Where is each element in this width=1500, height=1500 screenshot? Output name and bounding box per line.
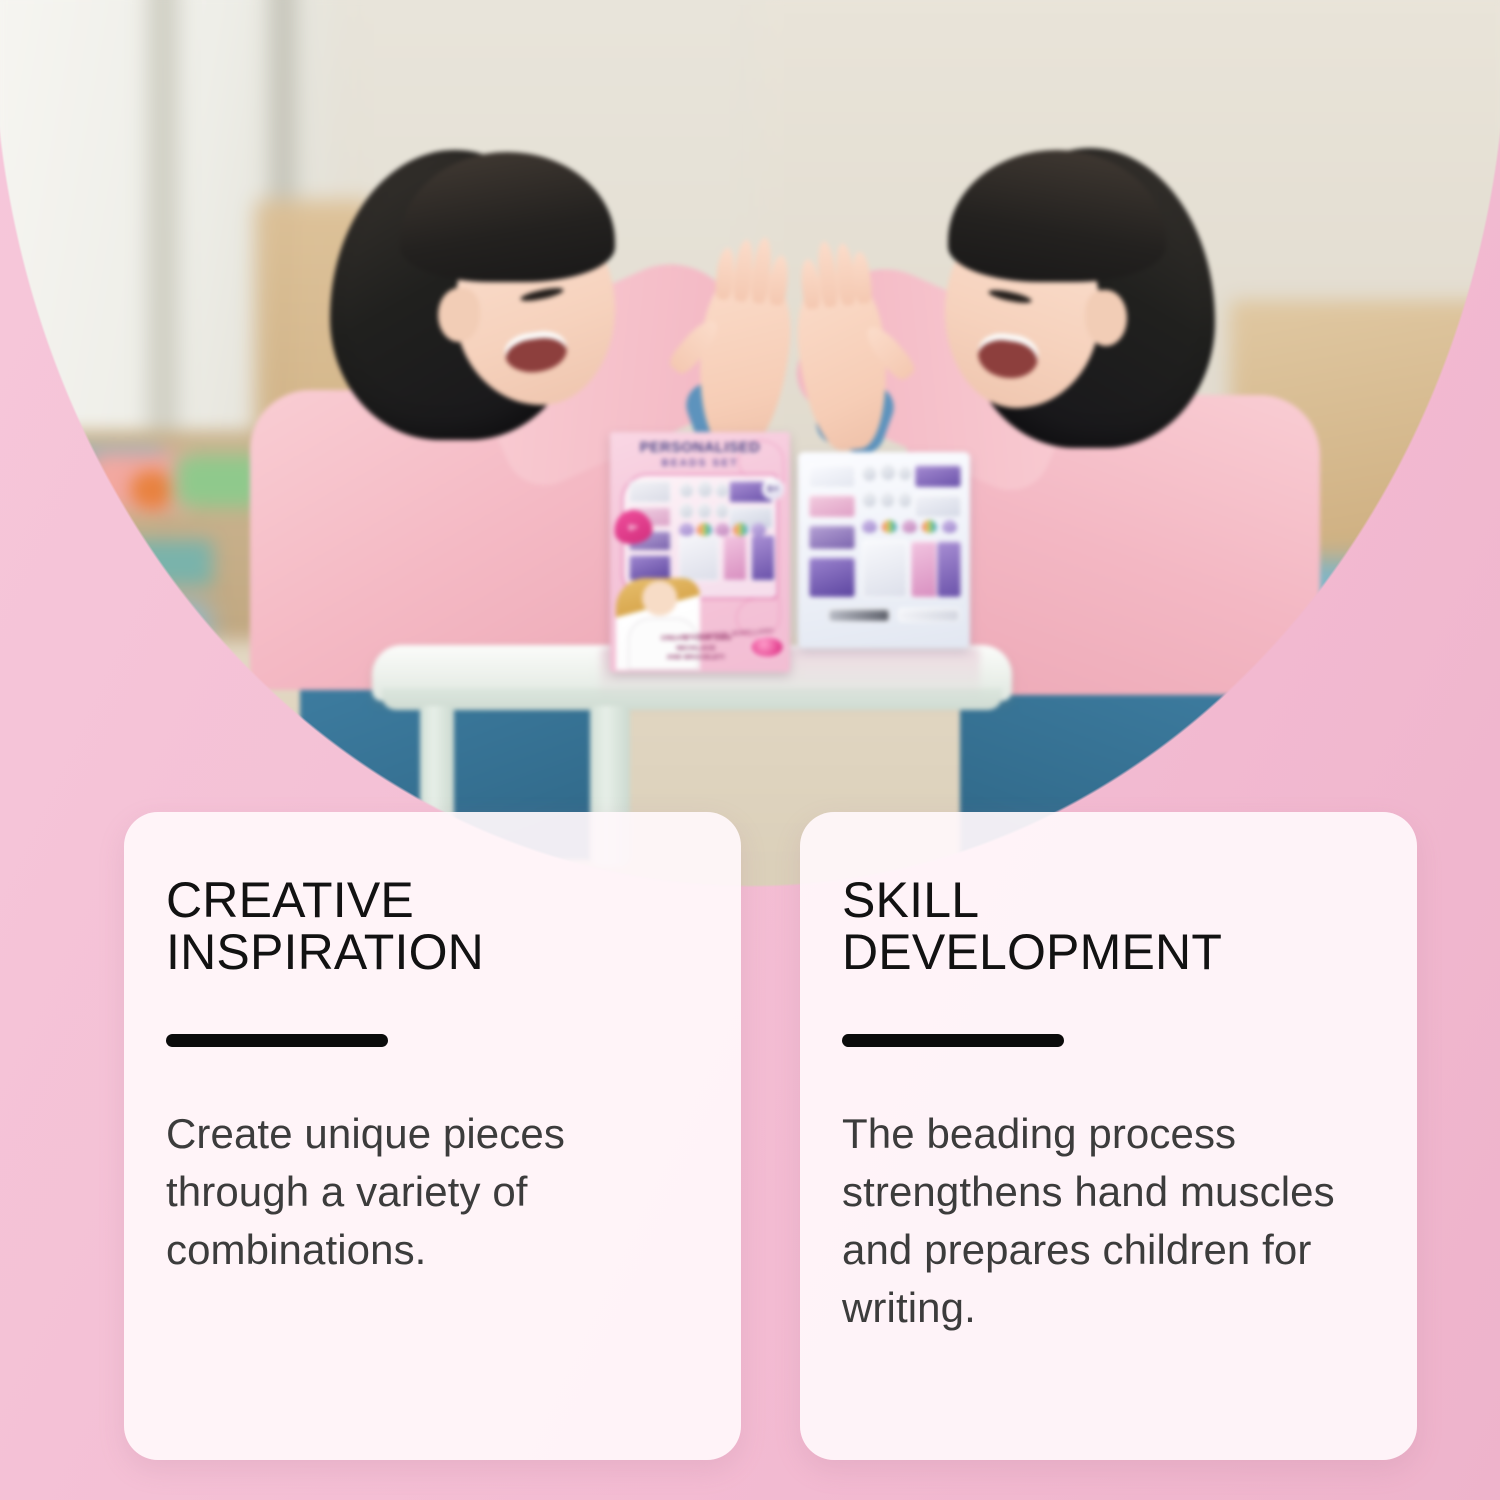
feature-divider <box>166 1034 388 1047</box>
feature-divider <box>842 1034 1064 1047</box>
feature-card-skill-development: SKILL DEVELOPMENT The beading process st… <box>800 812 1417 1460</box>
marketing-panel: PERSONALISED BEADS SET <box>0 0 1500 1500</box>
hero-photo: PERSONALISED BEADS SET <box>0 0 1500 900</box>
child-right-ear <box>1085 290 1127 346</box>
product-box-subtitle: BEADS SET <box>610 458 790 469</box>
feature-card-creative-inspiration: CREATIVE INSPIRATION Create unique piece… <box>124 812 741 1460</box>
gem-icon <box>750 636 784 658</box>
toy-teal <box>108 540 213 586</box>
toy-orange <box>130 470 174 510</box>
product-box: PERSONALISED BEADS SET <box>610 432 790 672</box>
feature-body: Create unique pieces through a variety o… <box>166 1105 686 1279</box>
product-box-title: PERSONALISED <box>610 440 790 456</box>
product-bead-tray <box>798 452 970 648</box>
feature-body: The beading process strengthens hand mus… <box>842 1105 1362 1337</box>
product-box-cta: CREATE YOUR OWN NECKLACE AND BRACELET! <box>650 634 742 662</box>
age-badge: 6+ <box>762 478 784 500</box>
child-left-ear <box>438 288 480 342</box>
feature-title: CREATIVE INSPIRATION <box>166 874 695 978</box>
feature-title: SKILL DEVELOPMENT <box>842 874 1371 978</box>
